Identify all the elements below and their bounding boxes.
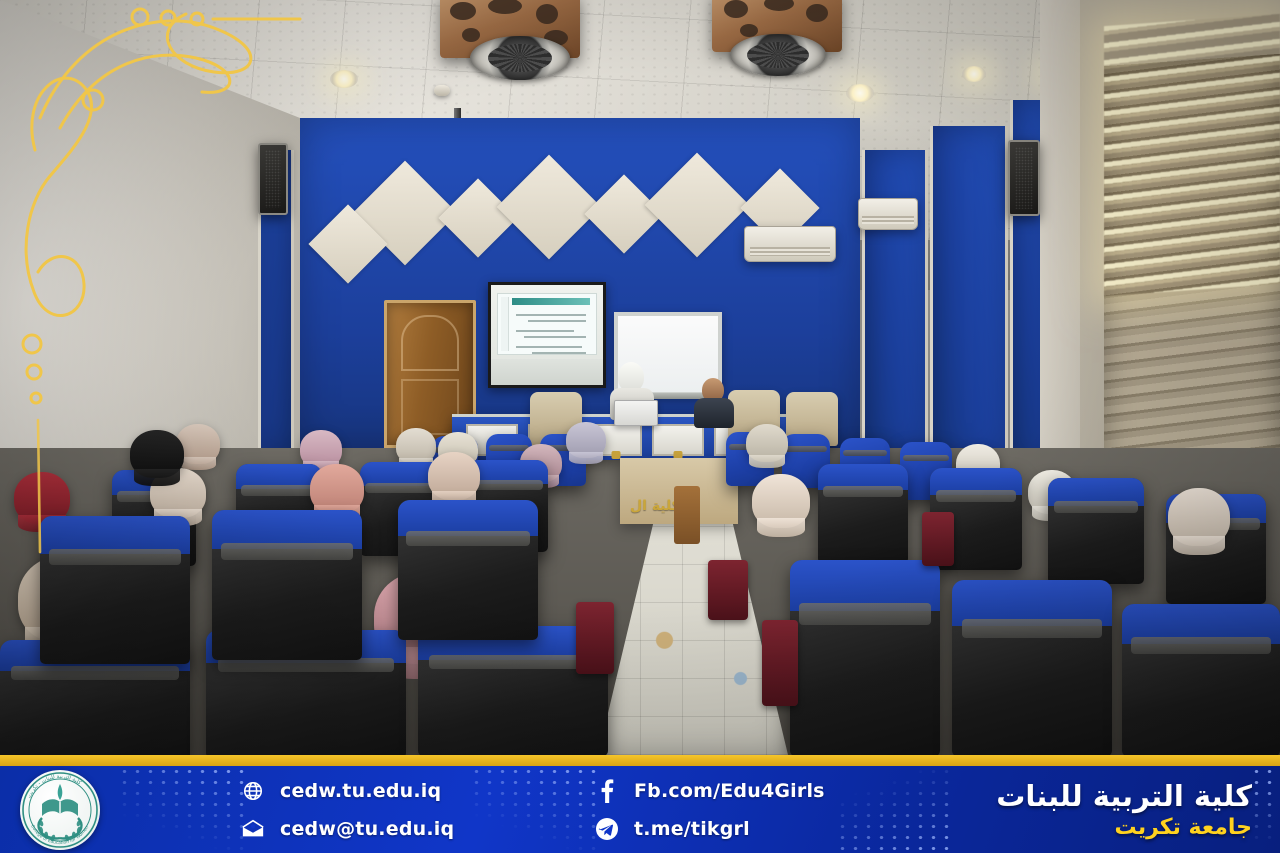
wall-diamond-5 [645,153,750,258]
footer-social: Fb.com/Edu4Girls t.me/tikgrl [594,766,825,853]
downlight-2 [846,84,874,102]
seat [790,560,940,755]
footer-title: كلية التربية للبنات جامعة تكريت [996,766,1252,853]
projection-screen [488,282,606,388]
seat [818,464,908,564]
attendee-head [1168,488,1230,546]
table-front-panel [652,424,704,456]
facebook-label: Fb.com/Edu4Girls [634,780,825,802]
telegram-label: t.me/tikgrl [634,818,750,840]
footer-contacts: cedw.tu.edu.iq cedw@tu.edu.iq [240,766,454,853]
downlight-1 [330,70,358,88]
attendee-head [396,428,436,464]
footer-title-primary: كلية التربية للبنات [996,779,1252,813]
wall-speaker-left [258,143,288,215]
dot-pattern-1 [118,766,250,853]
college-emblem-logo: كلية التربية للبنات - تكريت College of E… [12,766,108,853]
wall-speaker-right [1008,140,1040,216]
social-telegram[interactable]: t.me/tikgrl [594,817,825,841]
contact-website[interactable]: cedw.tu.edu.iq [240,779,454,803]
seat [1048,478,1144,584]
dot-pattern-3 [836,766,956,853]
wall-panel-right-1 [862,150,928,450]
email-label: cedw@tu.edu.iq [280,818,454,840]
seat [212,510,362,660]
globe-icon [240,779,266,803]
wall-diamond-4 [584,174,663,253]
screen-lower-area [491,359,603,385]
envelope-icon [240,817,266,841]
presenter-man-body [694,398,734,428]
podium-calligraphy: كلية ال [630,498,680,514]
downlight-5 [962,66,986,82]
social-facebook[interactable]: Fb.com/Edu4Girls [594,779,825,803]
dot-pattern-2 [470,766,596,853]
facebook-icon [594,779,620,803]
smoke-detector [434,85,450,96]
attendee-head [746,424,788,462]
seat-armrest [762,620,798,706]
seat-armrest [576,602,614,674]
event-photo: كلية ال [0,0,1280,755]
dot-pattern-4 [1250,766,1280,853]
seat [952,580,1112,755]
seat-armrest [922,512,954,566]
footer-title-secondary: جامعة تكريت [1115,815,1252,840]
svg-text:كلية التربية للبنات - تكريت: كلية التربية للبنات - تكريت [27,774,83,799]
attendee-head [310,464,364,514]
seat [398,500,538,640]
wooden-stand [674,486,700,544]
website-label: cedw.tu.edu.iq [280,780,441,802]
split-ac-unit-right [858,198,918,230]
presenter-laptop [614,400,658,426]
seat [1122,604,1280,755]
sunlight-through-blinds [1104,14,1280,296]
split-ac-unit-left [744,226,836,262]
attendee-head [566,422,606,458]
wall-diamond-3 [497,155,602,260]
wall-panel-right-2 [930,126,1008,456]
document-header-bar [512,298,590,305]
seat-armrest [708,560,748,620]
screenshot-root: كلية ال [0,0,1280,853]
projected-document [497,293,597,355]
wall-diamond-2 [438,178,517,257]
exhaust-fan-right [730,34,826,76]
telegram-icon [594,817,620,841]
attendee-head [752,474,810,528]
seat [40,516,190,664]
gold-divider [0,755,1280,766]
contact-email[interactable]: cedw@tu.edu.iq [240,817,454,841]
attendee-head [130,430,184,478]
document-side-rail [501,297,509,351]
attendee-head [428,452,480,500]
attendee-head [300,430,342,468]
exhaust-fan-left [470,36,570,80]
